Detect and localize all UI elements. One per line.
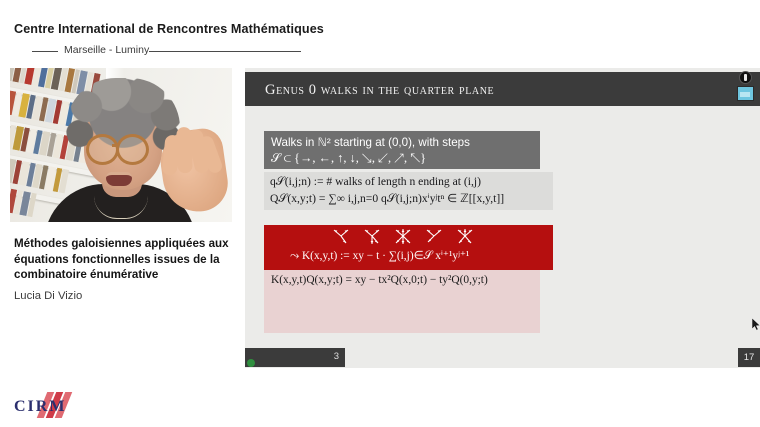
definition-line-2: 𝒮 ⊂ {→, ←, ↑, ↓, ↘, ↙, ↗, ↖} <box>271 151 426 166</box>
slide-title-bar: Genus 0 walks in the quarter plane <box>245 72 760 106</box>
step-diagram-4 <box>423 227 445 246</box>
functional-equation: K(x,y,t)Q(x,y;t) = xy − tx²Q(x,0;t) − ty… <box>271 274 488 286</box>
slide-nav-icons[interactable] <box>736 71 754 103</box>
kernel-equation: ⤳ K(x,y,t) := xy − t · ∑(i,j)∈𝒮 xⁱ⁺¹yʲ⁺¹ <box>290 248 469 263</box>
eyeglass-left <box>86 134 119 165</box>
step-diagram-2 <box>361 227 383 246</box>
slide-title: Genus 0 walks in the quarter plane <box>265 82 494 99</box>
total-pages-badge[interactable]: 17 <box>738 348 760 367</box>
functional-equation-box: K(x,y,t)Q(x,y;t) = xy − tx²Q(x,0;t) − ty… <box>264 270 540 333</box>
step-diagram-5 <box>454 227 476 246</box>
slide-progress-bar[interactable]: 3 <box>245 348 345 367</box>
header-subtitle-row: Marseille - Luminy <box>14 44 744 58</box>
speaker-video[interactable] <box>10 68 232 222</box>
header-rule-right <box>149 51 301 52</box>
step-diagram-row <box>330 227 482 246</box>
definition-line-1: Walks in ℕ² starting at (0,0), with step… <box>271 135 470 149</box>
logo-text: CIRM <box>14 398 66 416</box>
slide-thumbnail-icon[interactable] <box>737 86 754 101</box>
speaker-name: Lucia Di Vizio <box>14 290 82 302</box>
talk-title: Méthodes galoisiennes appliquées aux équ… <box>14 236 230 283</box>
step-diagram-1 <box>330 227 352 246</box>
slide-thumbnail-icon-inner <box>740 92 750 97</box>
cirm-logo: CIRM <box>12 392 108 420</box>
mouse-cursor-icon <box>752 318 760 331</box>
slide-viewport[interactable]: Genus 0 walks in the quarter plane Walks… <box>245 68 760 368</box>
page-header: Centre International de Rencontres Mathé… <box>0 0 760 60</box>
slide-footer: 3 17 <box>245 348 760 368</box>
formula-line-2: Q𝒮(x,y;t) = ∑∞ i,j,n=0 q𝒮(i,j;n)xⁱyʲtⁿ ∈… <box>270 191 504 206</box>
header-rule-left <box>32 51 58 52</box>
recording-indicator-icon <box>247 359 255 367</box>
help-icon[interactable] <box>739 71 752 84</box>
formula-line-1: q𝒮(i,j;n) := # walks of length n ending … <box>270 175 481 189</box>
eyeglass-right <box>116 134 149 165</box>
definition-box: Walks in ℕ² starting at (0,0), with step… <box>264 131 540 169</box>
eyeglass-bridge <box>112 144 118 147</box>
speaker-mouth <box>106 172 132 186</box>
presentation-viewer: Centre International de Rencontres Mathé… <box>0 0 760 427</box>
formulas-box: q𝒮(i,j;n) := # walks of length n ending … <box>264 172 553 210</box>
help-icon-glyph <box>744 74 747 81</box>
institution-location: Marseille - Luminy <box>64 44 149 56</box>
kernel-box: ⤳ K(x,y,t) := xy − t · ∑(i,j)∈𝒮 xⁱ⁺¹yʲ⁺¹ <box>264 225 553 270</box>
current-page-number: 3 <box>334 351 339 362</box>
step-diagram-3 <box>392 227 414 246</box>
institution-title: Centre International de Rencontres Mathé… <box>14 22 324 36</box>
